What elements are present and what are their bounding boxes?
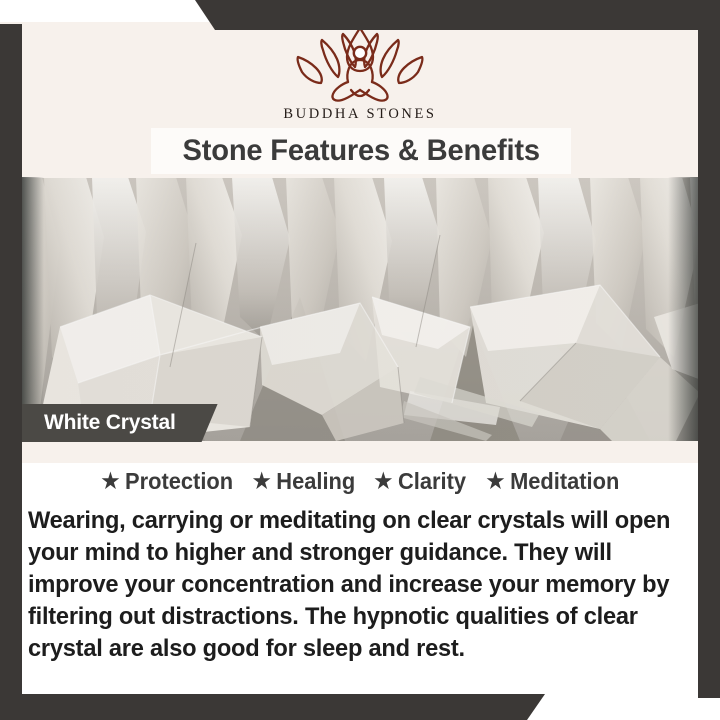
benefit-item: ★ Healing (253, 468, 356, 495)
frame-bottom-bar (0, 694, 720, 720)
benefit-label: Meditation (510, 468, 619, 495)
brand-logo-block: BUDDHA STONES (0, 26, 720, 123)
photo-right-shadow (668, 177, 702, 441)
benefits-row: ★ Protection ★ Healing ★ Clarity ★ Medit… (0, 468, 720, 495)
benefit-item: ★ Clarity (375, 468, 467, 495)
frame-right-bar (698, 22, 720, 698)
stone-name-tag: White Crystal (22, 404, 218, 442)
benefit-item: ★ Meditation (486, 468, 619, 495)
benefit-label: Healing (276, 468, 355, 495)
star-icon: ★ (375, 471, 393, 492)
crystal-photo (0, 177, 720, 441)
frame-left-bar (0, 24, 22, 698)
star-icon: ★ (486, 471, 504, 492)
star-icon: ★ (253, 471, 271, 492)
body-top-strip (22, 441, 698, 463)
benefit-label: Protection (125, 468, 233, 495)
description-text: Wearing, carrying or meditating on clear… (28, 505, 673, 665)
page-title: Stone Features & Benefits (182, 134, 539, 168)
brand-name: BUDDHA STONES (283, 106, 436, 123)
benefit-label: Clarity (398, 468, 466, 495)
infographic-card: BUDDHA STONES Stone Features & Benefits (0, 0, 720, 720)
benefit-item: ★ Protection (101, 468, 233, 495)
stone-name-label: White Crystal (44, 411, 176, 435)
star-icon: ★ (101, 471, 119, 492)
lotus-meditation-icon (285, 26, 435, 104)
title-banner: Stone Features & Benefits (151, 128, 571, 174)
